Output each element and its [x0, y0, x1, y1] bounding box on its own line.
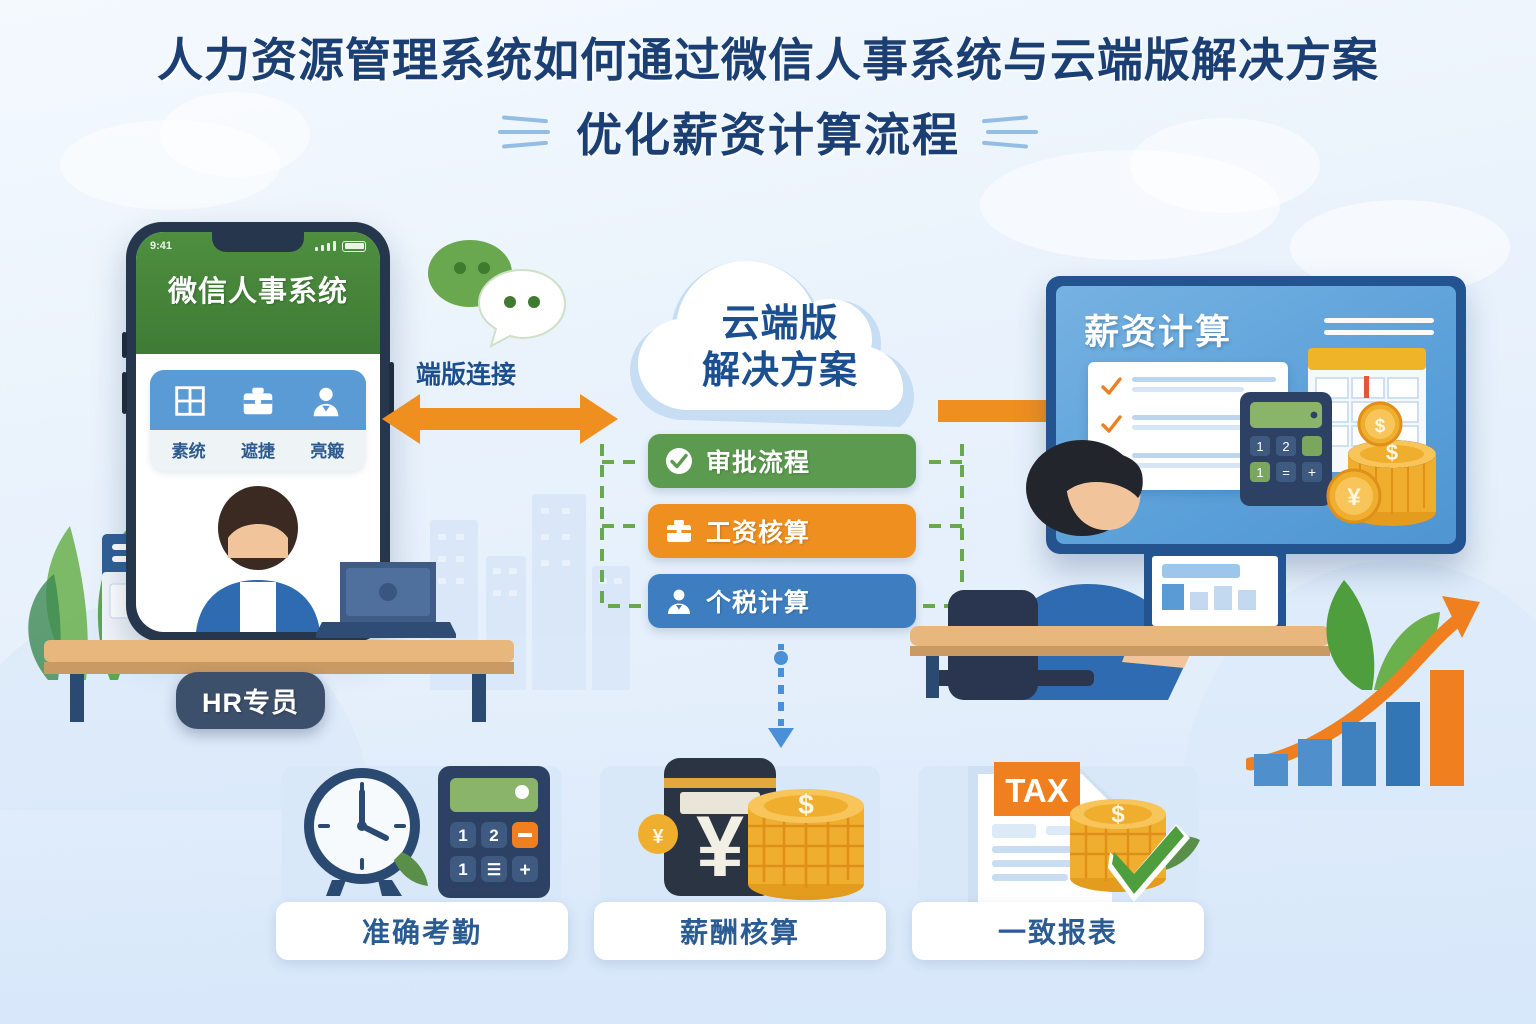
coin-stack-icon: $ ¥ $ [1320, 390, 1450, 540]
check-mark-icon [1100, 376, 1122, 398]
svg-text:TAX: TAX [1005, 772, 1069, 809]
infographic-canvas: 人力资源管理系统如何通过微信人事系统与云端版解决方案 优化薪资计算流程 9 [0, 0, 1536, 1024]
laptop-icon [316, 556, 456, 648]
clock-calculator-icon: 1 2 1 ☰ + [270, 748, 570, 908]
pill-approval-flow[interactable]: 审批流程 [648, 434, 916, 488]
pill-tax-calc[interactable]: 个税计算 [648, 574, 916, 628]
title-dash-left-icon [498, 117, 550, 147]
bar-1 [1298, 739, 1332, 786]
svg-text:$: $ [1375, 416, 1386, 437]
bar-2 [1342, 722, 1376, 786]
benefit-label-1: 薪酬核算 [680, 911, 800, 951]
svg-text:☰: ☰ [487, 862, 501, 879]
tile-label-0[interactable]: 素统 [172, 437, 206, 462]
connection-label: 端版连接 [416, 355, 516, 391]
benefit-card-group: 1 2 1 ☰ + 准确考勤 ¥ ¥ [270, 748, 1210, 960]
signal-icon [315, 241, 336, 251]
bar-4 [1430, 670, 1464, 786]
cloud-solution-block: 云端版 解决方案 [588, 240, 972, 430]
phone-notch [212, 232, 304, 252]
benefit-label-2: 一致报表 [998, 911, 1118, 951]
dashed-down-arrow-icon [763, 642, 799, 752]
status-time: 9:41 [150, 240, 172, 252]
title-line-2: 优化薪资计算流程 [576, 99, 960, 165]
quick-action-card: 素统 遮捷 亮簸 [150, 370, 366, 471]
check-mark-icon [1100, 414, 1122, 436]
briefcase-icon [664, 516, 694, 546]
double-arrow-icon [380, 390, 620, 448]
monitor-title: 薪资计算 [1084, 304, 1232, 355]
wechat-bubbles-icon [424, 236, 574, 356]
pill-label-1: 工资核算 [706, 513, 810, 549]
page-title: 人力资源管理系统如何通过微信人事系统与云端版解决方案 优化薪资计算流程 [0, 34, 1536, 165]
cloud-line-2: 解决方案 [702, 348, 858, 396]
title-dash-right-icon [986, 117, 1038, 147]
user-badge-icon [664, 586, 694, 616]
tile-label-1[interactable]: 遮捷 [241, 437, 275, 462]
benefit-card-report[interactable]: TAX [906, 748, 1210, 960]
svg-text:=: = [1282, 465, 1290, 480]
dashed-connector-left [600, 434, 644, 616]
benefit-card-payroll[interactable]: ¥ ¥ $ [588, 748, 892, 960]
user-badge-icon[interactable] [307, 382, 345, 420]
app-title: 微信人事系统 [150, 268, 366, 310]
pill-payroll-calc[interactable]: 工资核算 [648, 504, 916, 558]
svg-text:$: $ [1111, 801, 1125, 828]
feature-pill-group: 审批流程 工资核算 个税计算 [648, 434, 916, 644]
hr-badge: HR专员 [176, 672, 325, 729]
svg-text:2: 2 [489, 826, 498, 845]
tax-document-check-icon: TAX [906, 748, 1206, 908]
svg-text:¥: ¥ [1347, 484, 1361, 511]
svg-text:¥: ¥ [696, 799, 744, 895]
benefit-label-1-wrap: 薪酬核算 [594, 902, 886, 960]
svg-text:1: 1 [458, 826, 467, 845]
cloud-line-1: 云端版 [721, 301, 838, 349]
benefit-label-0: 准确考勤 [362, 911, 482, 951]
bar-3 [1386, 702, 1420, 786]
battery-icon [342, 241, 366, 252]
bar-0 [1254, 754, 1288, 786]
title-line-1: 人力资源管理系统如何通过微信人事系统与云端版解决方案 [0, 34, 1536, 87]
briefcase-icon[interactable] [239, 382, 277, 420]
svg-text:¥: ¥ [652, 826, 664, 848]
wallet-coins-icon: ¥ ¥ $ [588, 748, 888, 908]
tile-label-2[interactable]: 亮簸 [310, 437, 344, 462]
monitor-title-rule [1324, 318, 1434, 342]
growth-chart [1246, 586, 1526, 786]
pill-label-0: 审批流程 [706, 443, 810, 479]
benefit-card-attendance[interactable]: 1 2 1 ☰ + 准确考勤 [270, 748, 574, 960]
pill-label-2: 个税计算 [706, 583, 810, 619]
svg-text:1: 1 [458, 860, 467, 879]
check-circle-icon [664, 446, 694, 476]
benefit-label-2-wrap: 一致报表 [912, 902, 1204, 960]
cloud-label: 云端版 解决方案 [588, 240, 972, 430]
benefit-label-0-wrap: 准确考勤 [276, 902, 568, 960]
svg-text:+: + [519, 860, 530, 881]
building-icon[interactable] [171, 382, 209, 420]
svg-text:2: 2 [1282, 439, 1289, 454]
svg-text:+: + [1308, 464, 1316, 480]
svg-text:$: $ [798, 789, 814, 820]
